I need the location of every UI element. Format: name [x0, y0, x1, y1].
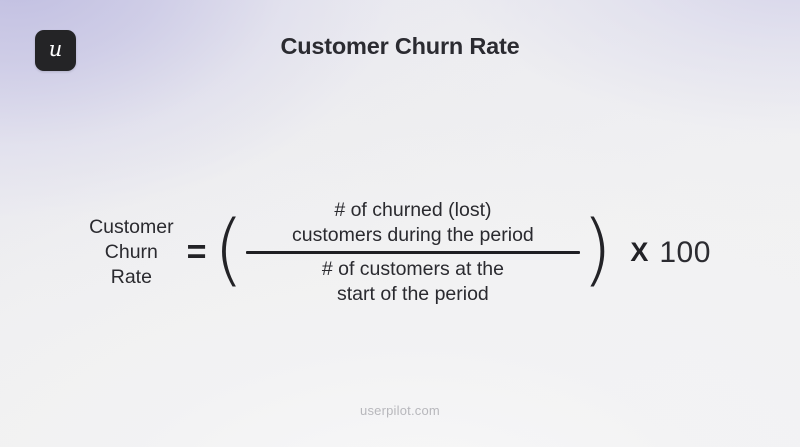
equals-sign: = [187, 235, 207, 269]
fraction: # of churned (lost) customers during the… [246, 198, 580, 307]
formula-block: Customer Churn Rate = ( # of churned (lo… [0, 185, 800, 320]
footer-attribution: userpilot.com [0, 403, 800, 418]
fraction-denominator-line-1: # of customers at the [322, 257, 504, 282]
fraction-numerator-line-1: # of churned (lost) [292, 198, 534, 223]
close-parenthesis: ) [582, 222, 612, 278]
fraction-numerator: # of churned (lost) customers during the… [286, 198, 540, 251]
page-title: Customer Churn Rate [0, 33, 800, 60]
multiplier-value: 100 [659, 238, 711, 268]
fraction-numerator-line-2: customers during the period [292, 223, 534, 248]
formula-left-label: Customer Churn Rate [89, 215, 174, 290]
slide-canvas: u Customer Churn Rate Customer Churn Rat… [0, 0, 800, 447]
formula-left-label-line-1: Customer [89, 215, 174, 240]
formula-left-label-line-3: Rate [89, 265, 174, 290]
multiplication-sign: X [630, 239, 648, 266]
open-parenthesis: ( [213, 222, 243, 278]
fraction-denominator: # of customers at the start of the perio… [316, 254, 510, 307]
formula-left-label-line-2: Churn [89, 240, 174, 265]
fraction-denominator-line-2: start of the period [322, 282, 504, 307]
